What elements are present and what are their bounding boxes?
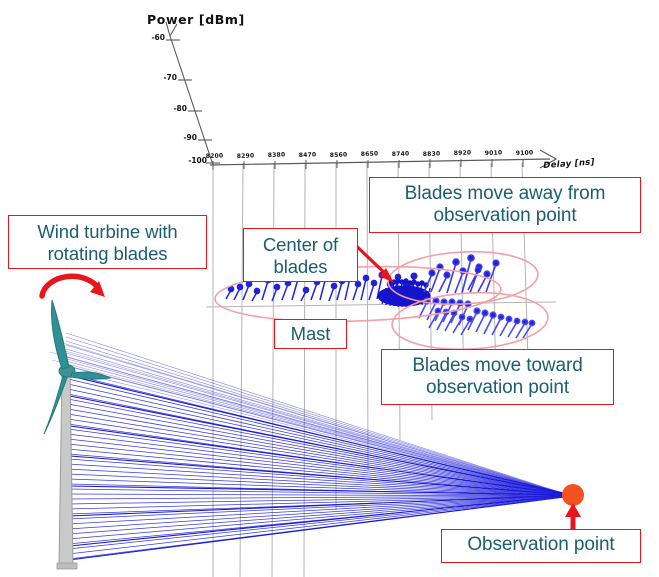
rotation-arrow-icon: [42, 276, 105, 297]
turbine-blades: [44, 300, 110, 434]
observation-point-arrow: [565, 503, 581, 529]
callout-blades-toward-line1: Blades move toward: [382, 355, 613, 377]
callout-center-of-blades-line2: blades: [244, 256, 357, 278]
observation-point-marker: [562, 484, 584, 506]
callout-wind-turbine-line2: rotating blades: [9, 243, 206, 265]
turbine-mast: [57, 372, 77, 569]
callout-wind-turbine-line1: Wind turbine with: [9, 221, 206, 243]
callout-blades-away[interactable]: Blades move away from observation point: [369, 177, 641, 233]
callout-observation-point[interactable]: Observation point: [441, 529, 641, 563]
callout-wind-turbine[interactable]: Wind turbine with rotating blades: [8, 215, 207, 269]
callout-blades-toward-line2: observation point: [382, 377, 613, 399]
wind-turbine-illustration: [0, 0, 659, 577]
callout-blades-away-line1: Blades move away from: [370, 183, 640, 205]
callout-mast[interactable]: Mast: [274, 319, 347, 349]
callout-blades-away-line2: observation point: [370, 205, 640, 227]
figure-canvas: Power [dBm] Delay [ns] -60 -70 -80 -90 -…: [0, 0, 659, 577]
callout-blades-toward[interactable]: Blades move toward observation point: [381, 349, 614, 405]
callout-center-of-blades-line1: Center of: [244, 234, 357, 256]
callout-observation-point-line1: Observation point: [442, 534, 640, 556]
callout-center-of-blades[interactable]: Center of blades: [243, 228, 358, 282]
callout-mast-line1: Mast: [275, 323, 346, 345]
